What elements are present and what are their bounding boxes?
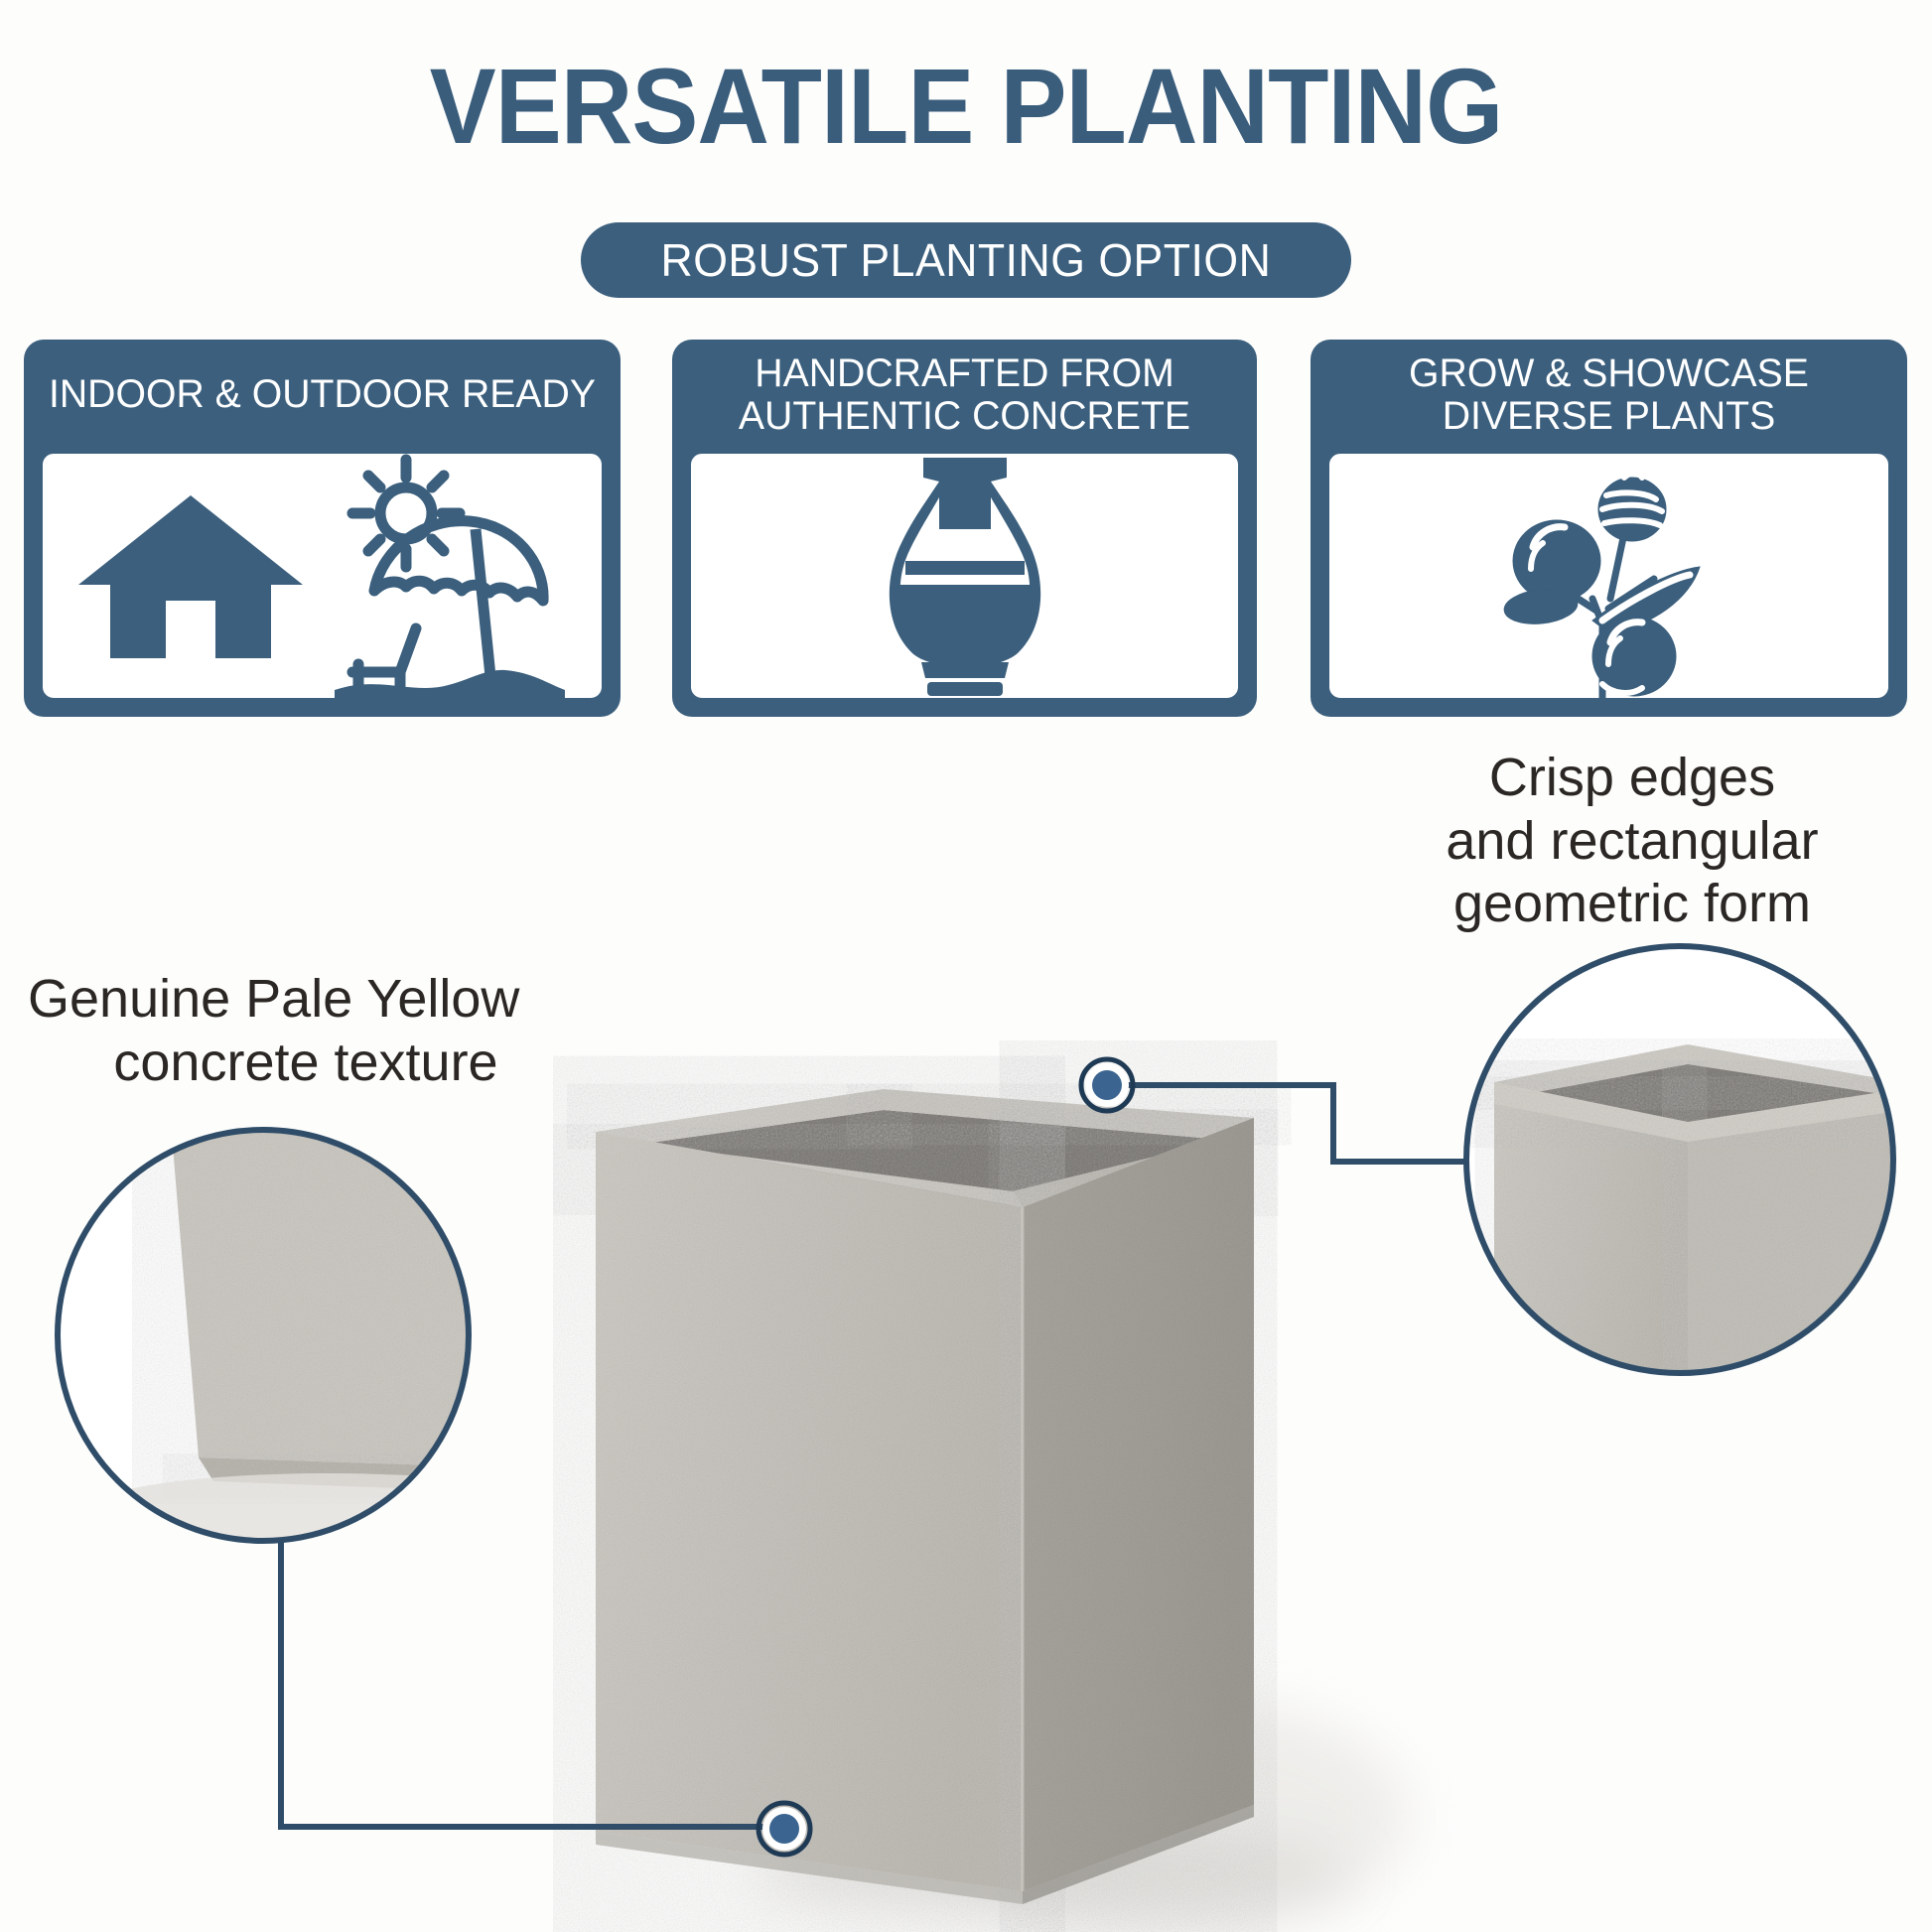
zoom-bubble-texture: [58, 1122, 566, 1545]
callout-dot-edges[interactable]: [1081, 1059, 1133, 1111]
planter-face-left: [596, 1132, 1023, 1891]
planter-face-right: [1023, 1118, 1254, 1891]
product-scene: [0, 0, 1932, 1932]
concrete-planter: [596, 1089, 1254, 1904]
callout-dot-texture[interactable]: [759, 1803, 810, 1855]
zoom-bubble-edges: [1466, 946, 1932, 1410]
